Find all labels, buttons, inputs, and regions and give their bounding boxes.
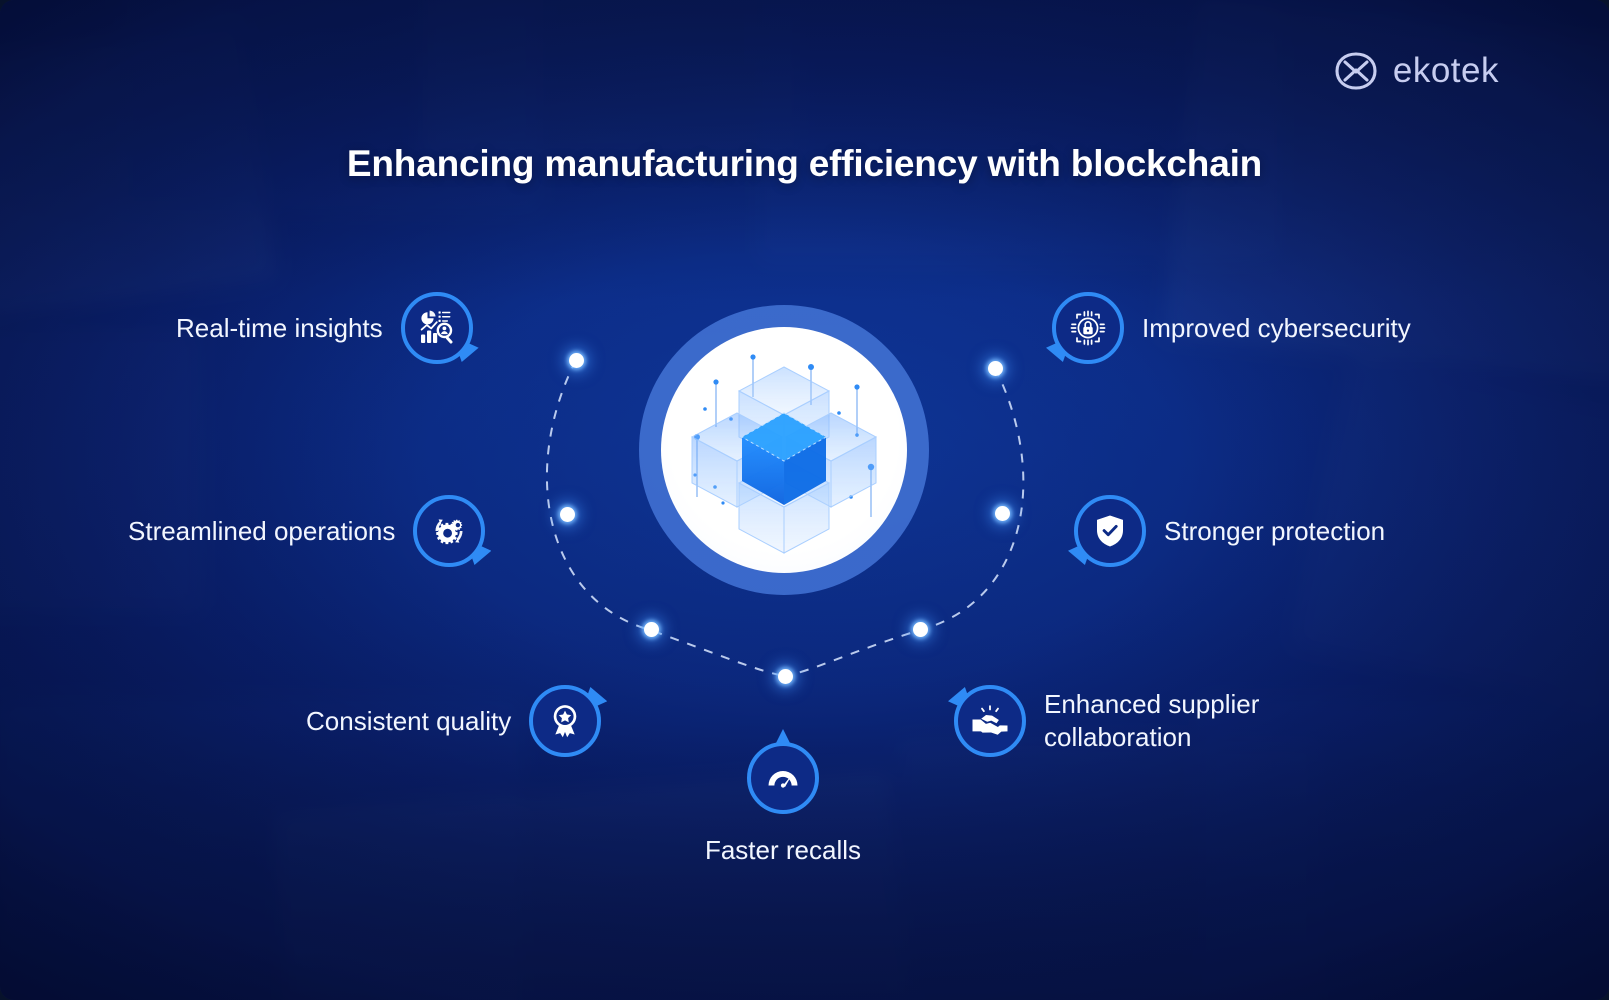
benefit-label: Improved cybersecurity — [1142, 312, 1411, 345]
benefit-badge[interactable] — [747, 742, 819, 814]
benefit-label: Stronger protection — [1164, 515, 1385, 548]
benefit-badge[interactable] — [954, 685, 1026, 757]
benefit-faster-recalls[interactable]: Faster recalls — [683, 742, 883, 867]
benefit-label: Real-time insights — [176, 312, 383, 345]
arc-node-dot — [988, 361, 1003, 376]
benefit-badge[interactable] — [529, 685, 601, 757]
award-ribbon-icon — [529, 685, 601, 757]
shield-check-icon — [1074, 495, 1146, 567]
benefit-badge[interactable] — [401, 292, 473, 364]
arc-node-dot — [644, 622, 659, 637]
arc-node-dot — [995, 506, 1010, 521]
benefit-badge[interactable] — [413, 495, 485, 567]
benefit-stronger-protection[interactable]: Stronger protection — [1074, 495, 1385, 567]
brand-wordmark: ekotek — [1393, 51, 1499, 91]
central-blockchain-illustration — [639, 305, 929, 595]
benefit-improved-cybersecurity[interactable]: Improved cybersecurity — [1052, 292, 1411, 364]
gears-refresh-icon — [413, 495, 485, 567]
arc-node-dot — [560, 507, 575, 522]
ekotek-infinity-mark-icon — [1333, 48, 1379, 94]
isometric-cubes-icon — [661, 327, 907, 573]
benefit-consistent-quality[interactable]: Consistent quality — [306, 685, 601, 757]
benefit-badge[interactable] — [1052, 292, 1124, 364]
analytics-magnifier-icon — [401, 292, 473, 364]
arc-node-dot — [913, 622, 928, 637]
speedometer-gauge-icon — [747, 742, 819, 814]
benefit-label: Enhanced supplier collaboration — [1044, 688, 1259, 754]
benefit-label: Faster recalls — [705, 834, 861, 867]
arc-node-dot — [569, 353, 584, 368]
benefit-badge[interactable] — [1074, 495, 1146, 567]
circuit-lock-icon — [1052, 292, 1124, 364]
handshake-icon — [954, 685, 1026, 757]
infographic-canvas: ekotek Enhancing manufacturing efficienc… — [0, 0, 1609, 1000]
benefit-real-time-insights[interactable]: Real-time insights — [176, 292, 473, 364]
benefit-label: Consistent quality — [306, 705, 511, 738]
arc-node-dot — [778, 669, 793, 684]
benefit-streamlined-operations[interactable]: Streamlined operations — [128, 495, 485, 567]
benefit-label: Streamlined operations — [128, 515, 395, 548]
brand-logo: ekotek — [1333, 48, 1499, 94]
page-title: Enhancing manufacturing efficiency with … — [0, 143, 1609, 185]
benefit-enhanced-supplier-collaboration[interactable]: Enhanced supplier collaboration — [954, 685, 1259, 757]
